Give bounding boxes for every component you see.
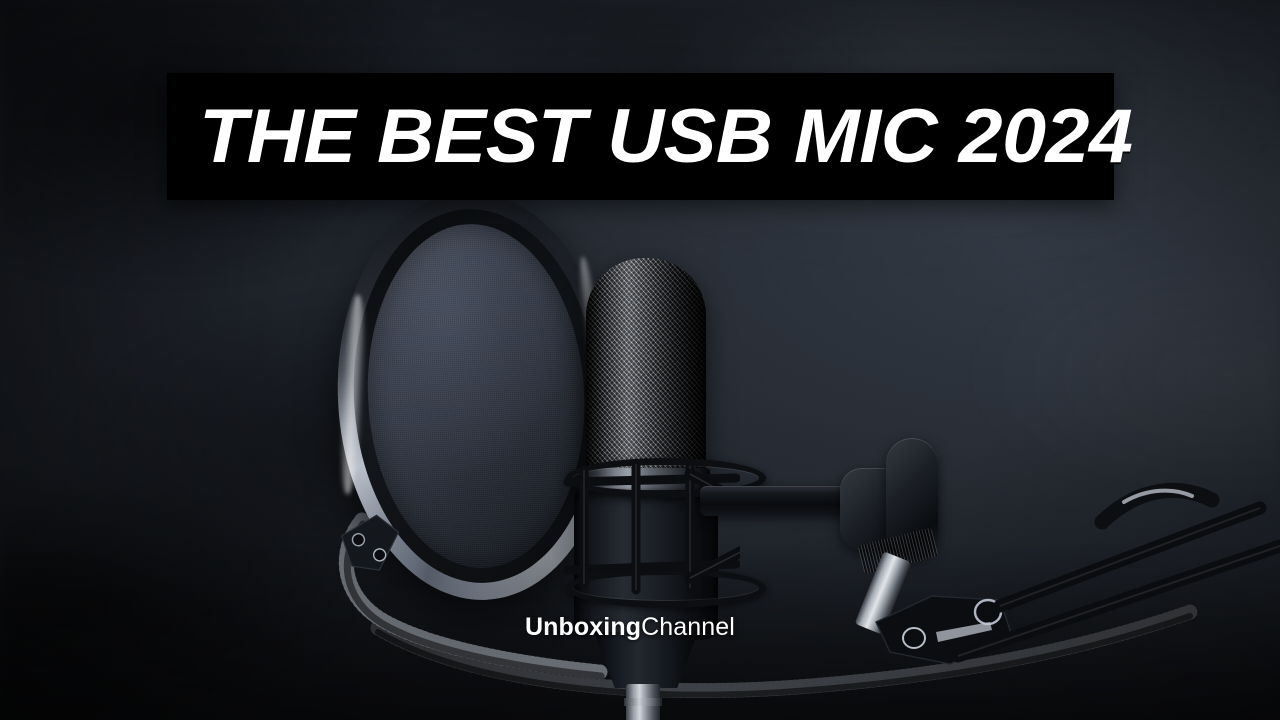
image-grain-overlay (0, 0, 1280, 720)
thumbnail-canvas: THE BEST USB MIC 2024 UnboxingChannel (0, 0, 1280, 720)
